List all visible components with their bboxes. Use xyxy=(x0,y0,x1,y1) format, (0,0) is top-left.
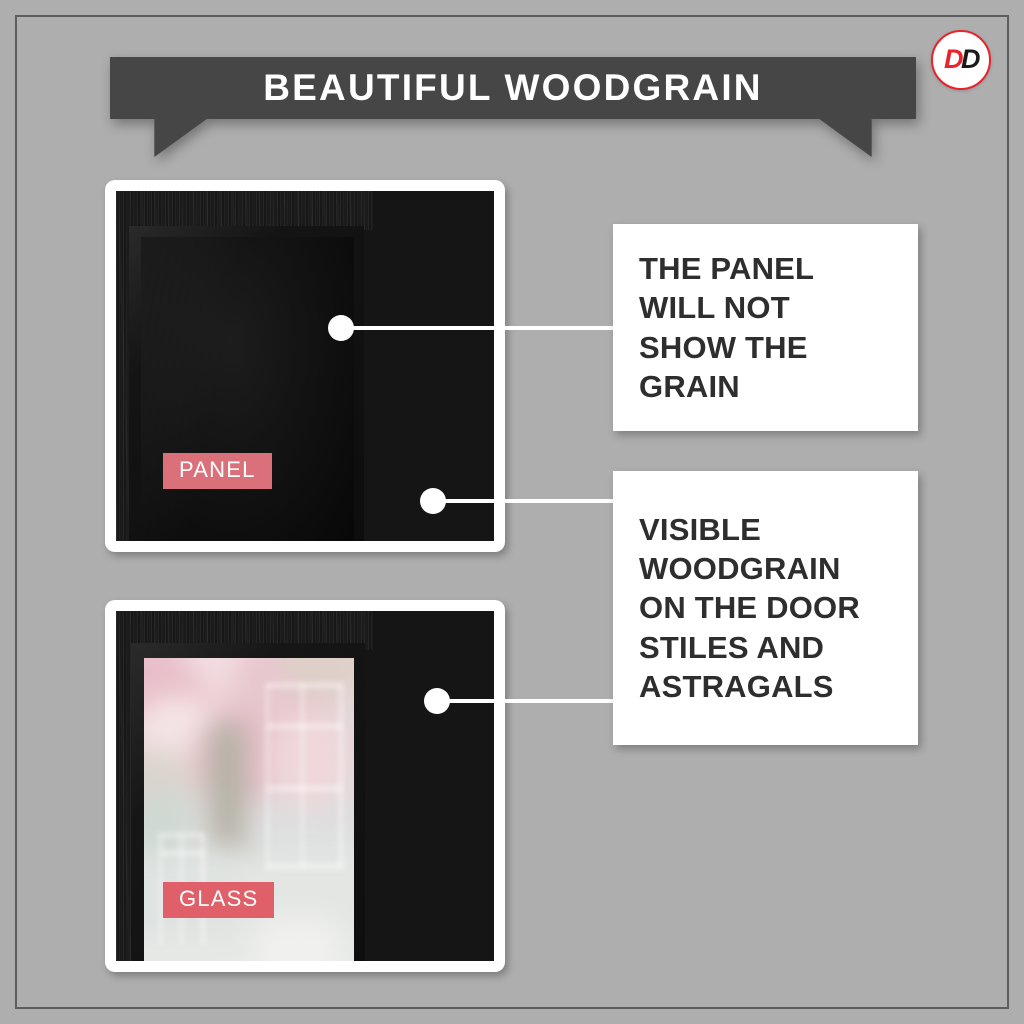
door-panel-face xyxy=(141,237,355,542)
logo-letter-one: D xyxy=(944,44,961,74)
connector-line-stile-upper xyxy=(432,499,616,503)
connector-dot-panel[interactable] xyxy=(328,315,354,341)
dd-logo[interactable]: DD xyxy=(931,30,991,90)
callout-woodgrain-text: VISIBLE WOODGRAIN ON THE DOOR STILES AND… xyxy=(613,510,872,705)
dd-logo-text: DD xyxy=(944,46,978,73)
callout-panel: THE PANEL WILL NOT SHOW THE GRAIN xyxy=(613,224,918,431)
connector-line-panel xyxy=(340,326,616,330)
logo-letter-two: D xyxy=(961,44,978,74)
glass-door-photo: GLASS xyxy=(116,611,494,961)
infographic-canvas: BEAUTIFUL WOODGRAIN DD xyxy=(0,0,1024,1024)
callout-panel-text: THE PANEL WILL NOT SHOW THE GRAIN xyxy=(613,249,826,405)
status-badge-glass: GLASS xyxy=(163,882,274,918)
door-rail-top xyxy=(116,191,373,230)
connector-dot-stile-lower[interactable] xyxy=(424,688,450,714)
photo-card-glass-door[interactable]: GLASS xyxy=(105,600,505,972)
status-badge-panel: PANEL xyxy=(163,453,272,489)
callout-woodgrain: VISIBLE WOODGRAIN ON THE DOOR STILES AND… xyxy=(613,471,918,745)
door-stile-left-glass xyxy=(116,611,131,961)
connector-line-stile-lower xyxy=(436,699,616,703)
connector-dot-stile-upper[interactable] xyxy=(420,488,446,514)
page-title: BEAUTIFUL WOODGRAIN xyxy=(110,57,916,119)
window-reflection-right xyxy=(266,683,346,870)
header-banner: BEAUTIFUL WOODGRAIN xyxy=(110,57,916,157)
